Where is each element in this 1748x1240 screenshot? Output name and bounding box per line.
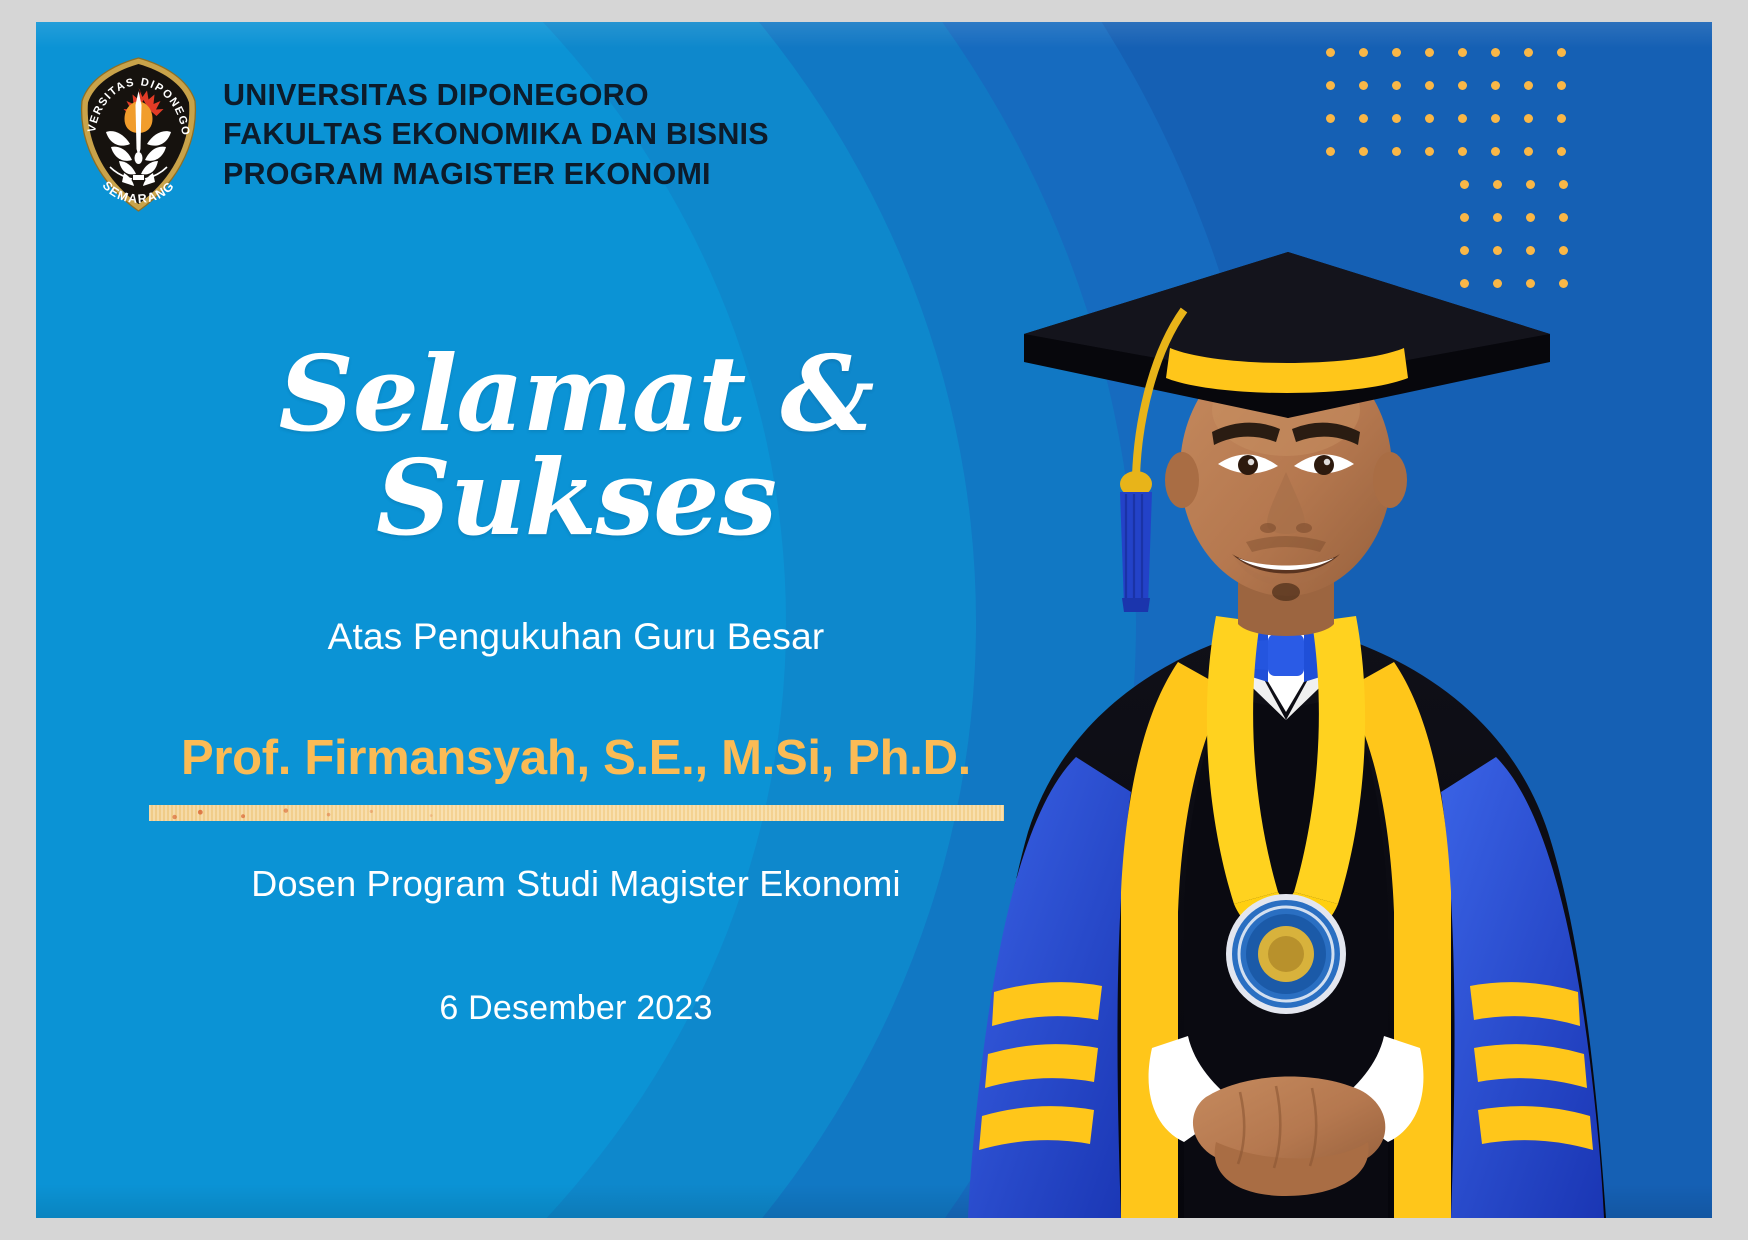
decorative-dot bbox=[1557, 81, 1566, 90]
subtitle-pengukuhan: Atas Pengukuhan Guru Besar bbox=[96, 616, 1056, 658]
decorative-dot bbox=[1392, 147, 1401, 156]
decorative-dot bbox=[1326, 81, 1335, 90]
undip-logo: UNIVERSITAS DIPONEGORO SEMARANG bbox=[76, 55, 201, 215]
decorative-dot bbox=[1359, 81, 1368, 90]
decorative-dot bbox=[1392, 114, 1401, 123]
decorative-dot bbox=[1359, 114, 1368, 123]
decorative-dot bbox=[1557, 147, 1566, 156]
decorative-dot bbox=[1392, 81, 1401, 90]
decorative-dot bbox=[1524, 81, 1533, 90]
decorative-dot bbox=[1326, 48, 1335, 57]
decorative-dot bbox=[1491, 114, 1500, 123]
decorative-dot bbox=[1425, 114, 1434, 123]
header-title-block: UNIVERSITAS DIPONEGORO FAKULTAS EKONOMIK… bbox=[223, 76, 769, 195]
decorative-dot bbox=[1524, 114, 1533, 123]
decorative-dot bbox=[1458, 147, 1467, 156]
decorative-dot bbox=[1425, 48, 1434, 57]
gold-divider bbox=[149, 805, 1004, 821]
decorative-dot bbox=[1326, 147, 1335, 156]
decorative-dot bbox=[1526, 180, 1535, 189]
banner-header: UNIVERSITAS DIPONEGORO SEMARANG bbox=[76, 55, 769, 215]
decorative-dot bbox=[1557, 48, 1566, 57]
decorative-dot bbox=[1491, 81, 1500, 90]
professor-name: Prof. Firmansyah, S.E., M.Si, Ph.D. bbox=[96, 730, 1056, 786]
top-sheen bbox=[36, 22, 1712, 48]
decorative-dot bbox=[1524, 147, 1533, 156]
main-content: Selamat & Sukses Atas Pengukuhan Guru Be… bbox=[96, 342, 1056, 1028]
decorative-dot bbox=[1425, 147, 1434, 156]
decorative-dot bbox=[1458, 48, 1467, 57]
decorative-dot bbox=[1425, 81, 1434, 90]
certificate-banner: UNIVERSITAS DIPONEGORO SEMARANG bbox=[36, 22, 1712, 1218]
decorative-dot bbox=[1359, 48, 1368, 57]
header-line-program: PROGRAM MAGISTER EKONOMI bbox=[223, 155, 769, 195]
decorative-dot bbox=[1491, 48, 1500, 57]
professor-portrait bbox=[916, 192, 1656, 1218]
program-affiliation: Dosen Program Studi Magister Ekonomi bbox=[96, 863, 1056, 905]
header-line-university: UNIVERSITAS DIPONEGORO bbox=[223, 76, 769, 116]
decorative-dot bbox=[1493, 180, 1502, 189]
event-date: 6 Desember 2023 bbox=[96, 989, 1056, 1028]
decorative-dot bbox=[1460, 180, 1469, 189]
decorative-dot bbox=[1359, 147, 1368, 156]
decorative-dot bbox=[1524, 48, 1533, 57]
decorative-dot bbox=[1559, 180, 1568, 189]
decorative-dot bbox=[1458, 81, 1467, 90]
decorative-dot bbox=[1458, 114, 1467, 123]
decorative-dot bbox=[1326, 114, 1335, 123]
decorative-dot bbox=[1557, 114, 1566, 123]
decorative-dot bbox=[1392, 48, 1401, 57]
headline-selamat-sukses: Selamat & Sukses bbox=[96, 342, 1056, 550]
decorative-dot bbox=[1491, 147, 1500, 156]
header-line-faculty: FAKULTAS EKONOMIKA DAN BISNIS bbox=[223, 115, 769, 155]
